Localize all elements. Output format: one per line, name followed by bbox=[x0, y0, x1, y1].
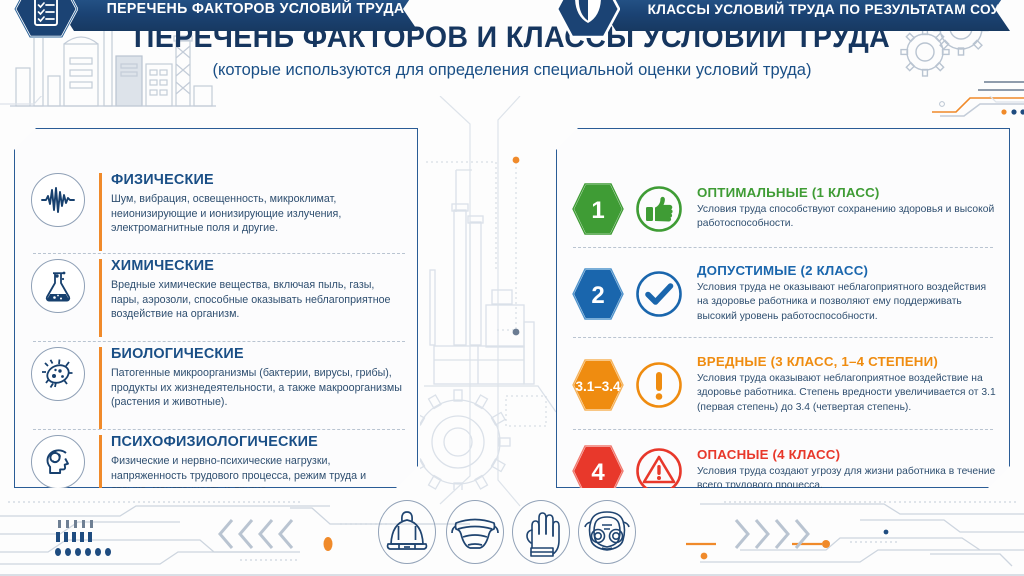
classes-header-label: КЛАССЫ УСЛОВИЙ ТРУДА ПО РЕЗУЛЬТАТАМ СОУТ bbox=[648, 1, 1009, 17]
warning-triangle-icon bbox=[635, 447, 683, 495]
list-item-description: Вредные химические вещества, включая пыл… bbox=[111, 278, 403, 322]
flask-icon bbox=[31, 259, 85, 313]
class-item: 3.1–3.4 ВРЕДНЫЕ (3 КЛАСС, 1–4 СТЕПЕНИ) У… bbox=[557, 343, 1009, 427]
classes-panel-header: КЛАССЫ УСЛОВИЙ ТРУДА ПО РЕЗУЛЬТАТАМ СОУТ bbox=[556, 0, 1010, 31]
class-badge-1: 1 bbox=[571, 182, 625, 236]
safety-goggles-frame bbox=[446, 500, 504, 564]
class-badge-3-text: 3.1–3.4 bbox=[575, 379, 621, 394]
hard-hat-icon bbox=[378, 500, 436, 564]
separator bbox=[573, 429, 993, 430]
class-item-title: ДОПУСТИМЫЕ (2 КЛАСС) bbox=[697, 264, 997, 279]
factors-panel-header: ПЕРЕЧЕНЬ ФАКТОРОВ УСЛОВИЙ ТРУДА bbox=[14, 0, 418, 31]
bacteria-glyph bbox=[41, 358, 75, 390]
separator bbox=[33, 253, 405, 254]
brain-head-icon bbox=[31, 435, 85, 489]
list-item-title: ХИМИЧЕСКИЕ bbox=[111, 259, 403, 275]
class-badge-2-text: 2 bbox=[591, 282, 604, 309]
class-badge-4-text: 4 bbox=[591, 459, 605, 486]
accent-bar bbox=[99, 347, 102, 429]
footer-decoration bbox=[0, 494, 1024, 576]
exclamation-circle-icon bbox=[635, 361, 683, 409]
clipboard-checklist-icon bbox=[14, 0, 78, 38]
class-item: 2 ДОПУСТИМЫЕ (2 КЛАСС) Условия труда не … bbox=[557, 253, 1009, 335]
separator bbox=[573, 337, 993, 338]
list-item-title: БИОЛОГИЧЕСКИЕ bbox=[111, 347, 403, 363]
separator bbox=[33, 429, 405, 430]
industrial-plant-watermark bbox=[420, 150, 560, 490]
class-item-description: Условия труда оказывают неблагоприятное … bbox=[697, 372, 997, 415]
waveform-glyph bbox=[41, 186, 75, 214]
class-item-title: ОПАСНЫЕ (4 КЛАСС) bbox=[697, 448, 997, 463]
list-item-description: Физические и нервно-психические нагрузки… bbox=[111, 454, 403, 498]
class-item-title: ОПТИМАЛЬНЫЕ (1 КЛАСС) bbox=[697, 186, 997, 201]
accent-bar bbox=[99, 259, 102, 337]
brain-head-glyph bbox=[41, 446, 75, 478]
class-badge-4: 4 bbox=[571, 444, 625, 498]
thumbs-up-icon bbox=[635, 185, 683, 233]
separator bbox=[33, 341, 405, 342]
flask-glyph bbox=[43, 270, 73, 302]
class-badge-1-text: 1 bbox=[591, 197, 604, 224]
bacteria-icon bbox=[31, 347, 85, 401]
class-badge-3: 3.1–3.4 bbox=[571, 358, 625, 412]
factors-header-bar: ПЕРЕЧЕНЬ ФАКТОРОВ УСЛОВИЙ ТРУДА bbox=[60, 0, 418, 31]
class-item-title: ВРЕДНЫЕ (3 КЛАСС, 1–4 СТЕПЕНИ) bbox=[697, 355, 997, 370]
list-item-title: ПСИХОФИЗИОЛОГИЧЕСКИЕ bbox=[111, 435, 403, 451]
hard-hat-frame bbox=[378, 500, 436, 564]
accent-bar bbox=[99, 173, 102, 251]
list-item: ХИМИЧЕСКИЕ Вредные химические вещества, … bbox=[15, 259, 417, 337]
waveform-icon bbox=[31, 173, 85, 227]
list-item-title: ФИЗИЧЕСКИЕ bbox=[111, 173, 403, 189]
respirator-mask-icon bbox=[578, 500, 636, 564]
check-circle-icon bbox=[635, 270, 683, 318]
respirator-mask-frame bbox=[578, 500, 636, 564]
classes-panel: 1 ОПТИМАЛЬНЫЕ (1 КЛАСС) Условия труда сп… bbox=[556, 128, 1010, 488]
class-item-description: Условия труда не оказывают неблагоприятн… bbox=[697, 281, 997, 324]
list-item-description: Шум, вибрация, освещенность, микроклимат… bbox=[111, 192, 403, 236]
separator bbox=[573, 247, 993, 248]
class-item-description: Условия труда создают угрозу для жизни р… bbox=[697, 465, 997, 494]
class-item: 1 ОПТИМАЛЬНЫЕ (1 КЛАСС) Условия труда сп… bbox=[557, 173, 1009, 245]
shield-icon bbox=[556, 0, 620, 38]
class-badge-2: 2 bbox=[571, 267, 625, 321]
class-item-description: Условия труда способствуют сохранению зд… bbox=[697, 203, 997, 232]
list-item: ФИЗИЧЕСКИЕ Шум, вибрация, освещенность, … bbox=[15, 173, 417, 251]
factors-panel: ФИЗИЧЕСКИЕ Шум, вибрация, освещенность, … bbox=[14, 128, 418, 488]
work-gloves-icon bbox=[512, 500, 570, 564]
safety-goggles-icon bbox=[446, 500, 504, 564]
page-subtitle: (которые используются для определения сп… bbox=[0, 61, 1024, 79]
factors-header-label: ПЕРЕЧЕНЬ ФАКТОРОВ УСЛОВИЙ ТРУДА bbox=[107, 1, 405, 17]
list-item-description: Патогенные микроорганизмы (бактерии, вир… bbox=[111, 366, 403, 410]
list-item: БИОЛОГИЧЕСКИЕ Патогенные микроорганизмы … bbox=[15, 347, 417, 429]
classes-header-bar: КЛАССЫ УСЛОВИЙ ТРУДА ПО РЕЗУЛЬТАТАМ СОУТ bbox=[602, 0, 1010, 31]
infographic-canvas: ПЕРЕЧЕНЬ ФАКТОРОВ И КЛАССЫ УСЛОВИЙ ТРУДА… bbox=[0, 0, 1024, 576]
work-gloves-frame bbox=[512, 500, 570, 564]
